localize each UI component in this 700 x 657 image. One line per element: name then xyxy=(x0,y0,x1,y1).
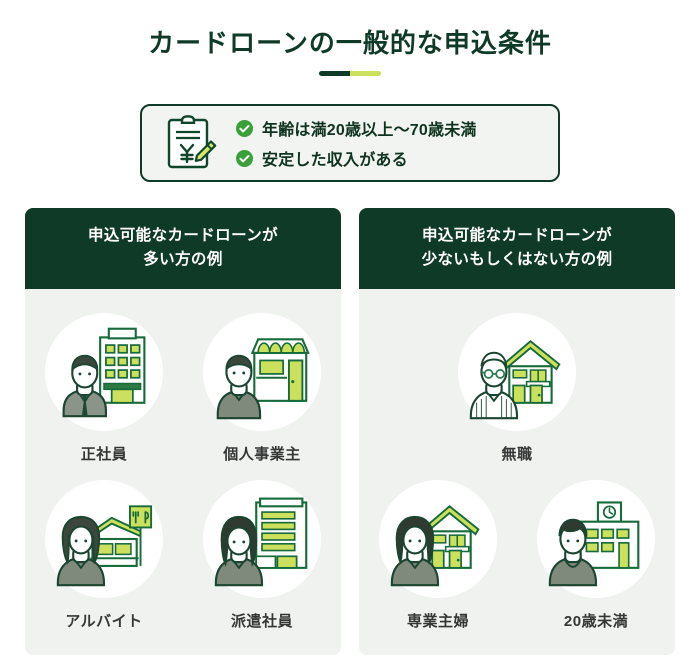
title-underline xyxy=(319,71,381,76)
conditions-list: 年齢は満20歳以上〜70歳未満 安定した収入がある xyxy=(236,116,477,170)
page-title-block: カードローンの一般的な申込条件 xyxy=(0,28,700,76)
unemployed-senior-house-icon xyxy=(458,313,576,431)
clipboard-yen-pencil-icon xyxy=(164,114,218,172)
shopkeeper-storefront-icon xyxy=(203,313,321,431)
panel-few-header: 申込可能なカードローンが 少ないもしくはない方の例 xyxy=(359,208,675,289)
condition-text: 年齢は満20歳以上〜70歳未満 xyxy=(262,116,477,140)
panel-many-header: 申込可能なカードローンが 多い方の例 xyxy=(25,208,341,289)
check-circle-icon xyxy=(236,150,253,167)
panel-few-header-line2: 少ないもしくはない方の例 xyxy=(369,248,665,272)
list-item: 正社員 xyxy=(25,303,183,470)
panel-few-or-none: 申込可能なカードローンが 少ないもしくはない方の例 xyxy=(359,208,675,655)
list-item: 専業主婦 xyxy=(359,470,517,637)
list-item-label: アルバイト xyxy=(65,610,142,631)
conditions-box: 年齢は満20歳以上〜70歳未満 安定した収入がある xyxy=(140,104,560,182)
list-item-label: 個人事業主 xyxy=(223,443,301,464)
list-item-label: 専業主婦 xyxy=(407,610,469,631)
list-item: 20歳未満 xyxy=(517,470,675,637)
panel-many: 申込可能なカードローンが 多い方の例 xyxy=(25,208,341,655)
homemaker-house-icon xyxy=(379,480,497,598)
list-item: アルバイト xyxy=(25,470,183,637)
list-item: 個人事業主 xyxy=(183,303,341,470)
temp-staff-tower-icon xyxy=(203,480,321,598)
office-worker-building-icon xyxy=(45,313,163,431)
panel-few-body: 無職 xyxy=(359,289,675,655)
condition-item: 安定した収入がある xyxy=(236,146,477,170)
part-timer-restaurant-icon xyxy=(45,480,163,598)
panel-many-body: 正社員 xyxy=(25,289,341,655)
title-underline-lime-segment xyxy=(350,71,381,76)
list-item: 無職 xyxy=(359,303,675,470)
panel-few-header-line1: 申込可能なカードローンが xyxy=(369,224,665,248)
list-item-label: 正社員 xyxy=(81,443,128,464)
title-underline-dark-segment xyxy=(319,71,350,76)
list-item-label: 20歳未満 xyxy=(564,610,628,631)
minor-student-school-icon xyxy=(537,480,655,598)
condition-item: 年齢は満20歳以上〜70歳未満 xyxy=(236,116,477,140)
panel-many-header-line2: 多い方の例 xyxy=(35,248,331,272)
page-title: カードローンの一般的な申込条件 xyxy=(0,28,700,59)
list-item: 派遣社員 xyxy=(183,470,341,637)
list-item-label: 派遣社員 xyxy=(231,610,293,631)
list-item-label: 無職 xyxy=(501,443,532,464)
check-circle-icon xyxy=(236,120,253,137)
comparison-panels: 申込可能なカードローンが 多い方の例 xyxy=(25,208,675,655)
condition-text: 安定した収入がある xyxy=(262,146,408,170)
panel-many-header-line1: 申込可能なカードローンが xyxy=(35,224,331,248)
